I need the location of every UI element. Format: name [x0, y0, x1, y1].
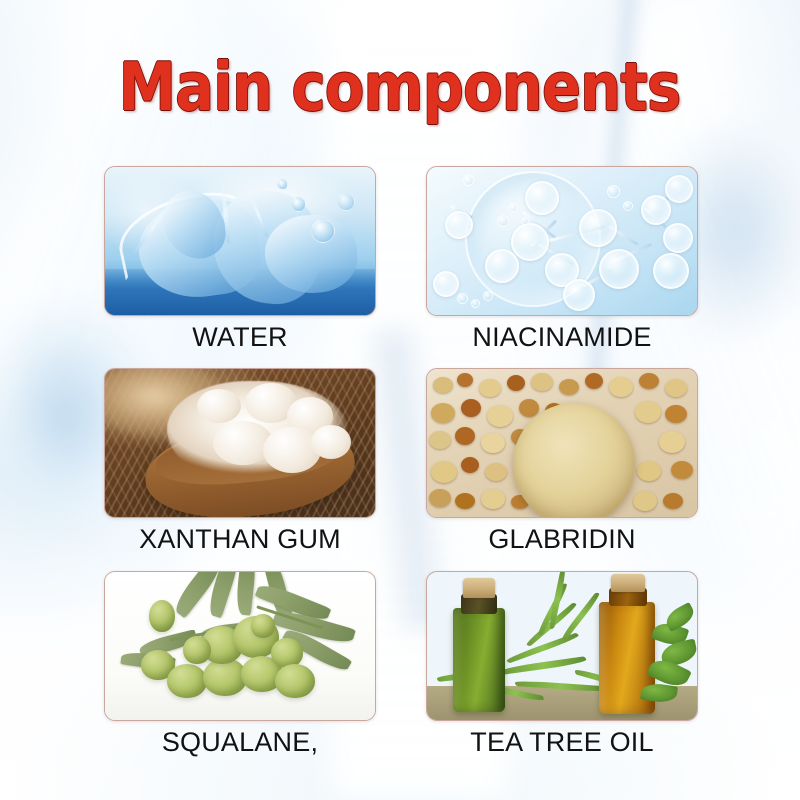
root-chip	[639, 373, 659, 389]
root-chip	[637, 461, 661, 481]
component-label-glabridin: GLABRIDIN	[488, 525, 635, 553]
root-chip	[671, 461, 693, 479]
olive-fruit	[167, 664, 207, 698]
mini-bubble-3	[521, 217, 529, 225]
water-droplet-4	[337, 193, 355, 211]
card-frame-squalane	[104, 571, 376, 721]
component-card-squalane[interactable]: SQUALANE,	[105, 571, 375, 756]
water-droplet-3	[277, 179, 288, 190]
component-label-xanthan-gum: XANTHAN GUM	[139, 525, 341, 553]
root-chip	[485, 463, 507, 481]
component-card-water[interactable]: WATER	[105, 166, 375, 351]
component-label-tea-tree-oil: TEA TREE OIL	[470, 728, 653, 756]
root-chip	[665, 379, 687, 397]
olive-fruit	[149, 600, 175, 632]
root-chip	[665, 405, 687, 423]
root-chip	[455, 493, 475, 509]
root-chip	[429, 431, 451, 449]
olive-fruit	[183, 636, 211, 664]
card-frame-water	[104, 166, 376, 316]
components-row-2: XANTHAN GUM	[105, 368, 697, 553]
powder-spoon-image	[105, 369, 375, 517]
glabridin-powder-mound	[513, 403, 635, 517]
herb-leaf	[663, 602, 697, 632]
olive-fruit	[251, 614, 275, 638]
green-oil-bottle	[453, 608, 505, 712]
water-droplet-2	[291, 197, 306, 212]
mini-bubble-9	[623, 201, 633, 211]
component-label-squalane: SQUALANE,	[162, 728, 318, 756]
root-chip	[455, 427, 475, 445]
root-chip	[531, 373, 553, 391]
components-row-1: WATER	[105, 166, 697, 351]
molecule-atom-6	[599, 249, 639, 289]
card-frame-niacinamide	[426, 166, 698, 316]
oil-bottles-herbs-image	[427, 572, 697, 720]
card-frame-tea-tree-oil	[426, 571, 698, 721]
root-chip	[429, 489, 451, 507]
water-droplet-1	[311, 219, 335, 243]
root-chip	[585, 373, 603, 389]
mini-bubble-1	[497, 215, 509, 227]
molecule-atom-3	[485, 249, 519, 283]
root-chip	[461, 457, 479, 473]
mini-bubble-7	[483, 291, 493, 301]
molecule-atom-11	[563, 279, 595, 311]
root-chip	[633, 491, 657, 511]
green-bottle-cork	[463, 578, 495, 598]
amber-bottle-cork	[611, 574, 645, 592]
molecule-atom-5	[579, 209, 617, 247]
molecule-atom-10	[653, 253, 689, 289]
olive-fruit	[275, 664, 315, 698]
molecule-atom-7	[641, 195, 671, 225]
card-frame-xanthan-gum	[104, 368, 376, 518]
component-label-water: WATER	[192, 323, 288, 351]
root-chip	[659, 431, 685, 453]
olive-fruit	[271, 638, 303, 668]
root-chip	[559, 379, 579, 395]
licorice-root-powder-image	[427, 369, 697, 517]
olive-leaf	[235, 572, 257, 616]
component-card-glabridin[interactable]: GLABRIDIN	[427, 368, 697, 553]
root-chip	[461, 399, 481, 417]
molecule-atom-13	[433, 271, 459, 297]
molecule-atom-1	[511, 223, 549, 261]
root-chip	[431, 461, 457, 483]
root-chip	[481, 433, 505, 453]
molecule-atom-2	[525, 181, 559, 215]
mini-bubble-2	[509, 203, 518, 212]
card-frame-glabridin	[426, 368, 698, 518]
root-chip	[481, 489, 505, 509]
component-card-tea-tree-oil[interactable]: TEA TREE OIL	[427, 571, 697, 756]
components-grid: WATER	[105, 166, 697, 773]
herb-sprig	[561, 591, 601, 640]
water-splash-image	[105, 167, 375, 315]
root-chip	[433, 377, 453, 393]
molecule-atom-8	[665, 175, 693, 203]
component-label-niacinamide: NIACINAMIDE	[472, 323, 651, 351]
components-row-3: SQUALANE,	[105, 571, 697, 756]
title-container: Main components	[0, 54, 800, 121]
root-chip	[635, 401, 661, 423]
root-chip	[663, 493, 683, 509]
component-card-niacinamide[interactable]: NIACINAMIDE	[427, 166, 697, 351]
page-title: Main components	[119, 54, 681, 121]
molecule-bubbles-image	[427, 167, 697, 315]
molecule-atom-9	[663, 223, 693, 253]
main-components-poster: Main components	[0, 0, 800, 800]
molecule-atom-12	[445, 211, 473, 239]
root-chip	[487, 405, 513, 427]
component-card-xanthan-gum[interactable]: XANTHAN GUM	[105, 368, 375, 553]
olives-image	[105, 572, 375, 720]
root-chip	[479, 379, 501, 397]
root-chip	[609, 377, 633, 397]
root-chip	[507, 375, 525, 391]
root-chip	[457, 373, 473, 387]
mini-bubble-5	[457, 293, 468, 304]
mini-bubble-6	[471, 299, 480, 308]
mini-bubble-4	[463, 175, 474, 186]
mini-bubble-8	[607, 185, 620, 198]
root-chip	[431, 403, 455, 423]
